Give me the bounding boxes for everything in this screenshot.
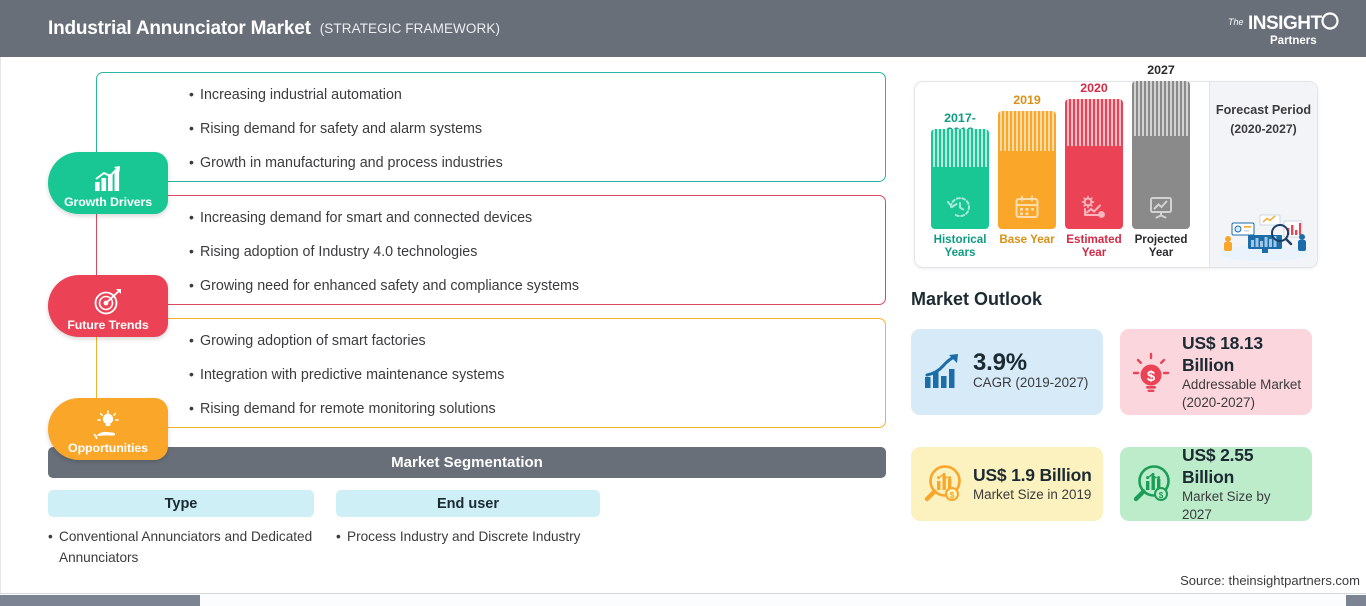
growth-chart-icon xyxy=(921,351,963,393)
panel-growth-drivers: Increasing industrial automation Rising … xyxy=(96,72,886,182)
segmentation-tab-type[interactable]: Type xyxy=(48,490,314,517)
forecast-period-range: (2020-2027) xyxy=(1230,122,1296,136)
pill-growth-drivers[interactable]: Growth Drivers xyxy=(48,152,168,214)
outlook-card-value: US$ 2.55 Billion xyxy=(1182,444,1302,488)
dollar-bulb-icon: $ xyxy=(1130,351,1172,393)
timeline-bar-year: 2020 xyxy=(1065,81,1123,95)
market-outlook-title: Market Outlook xyxy=(911,289,1042,310)
list-item: Rising demand for remote monitoring solu… xyxy=(189,401,885,418)
projection-screen-icon xyxy=(1148,195,1174,219)
bullet-list-opportunities: Growing adoption of smart factories Inte… xyxy=(97,319,885,418)
forecast-timeline: 2017-2018 Historical Years xyxy=(914,81,1318,268)
list-item: Process Industry and Discrete Industry xyxy=(336,526,600,547)
outlook-card-value: 3.9% xyxy=(973,352,1093,374)
right-column: 2017-2018 Historical Years xyxy=(905,57,1366,606)
magnifier-chart-icon: $ xyxy=(1130,463,1172,505)
timeline-bar-caption: Projected Year xyxy=(1124,233,1198,259)
outlook-card-text: US$ 1.9 Billion Market Size in 2019 xyxy=(973,464,1093,504)
segmentation-list-end-user: Process Industry and Discrete Industry xyxy=(336,526,600,547)
timeline-bar-caption: Estimated Year xyxy=(1057,233,1131,259)
market-segmentation-title: Market Segmentation xyxy=(391,454,543,471)
segmentation-tab-label: Type xyxy=(165,496,198,512)
calendar-icon xyxy=(1014,195,1040,219)
page-subtitle: (STRATEGIC FRAMEWORK) xyxy=(320,21,500,36)
list-item: Growing adoption of smart factories xyxy=(189,333,885,350)
horizontal-scrollbar[interactable] xyxy=(0,593,1366,606)
pill-label: Future Trends xyxy=(67,319,148,332)
timeline-bar-caption: Base Year xyxy=(990,233,1064,246)
outlook-card-market-size-2019[interactable]: $ US$ 1.9 Billion Market Size in 2019 xyxy=(911,447,1103,521)
page-title: Industrial Annunciator Market xyxy=(48,18,311,40)
bar-chart-growth-icon xyxy=(91,164,125,194)
outlook-card-label: Market Size in 2019 xyxy=(973,486,1093,504)
list-item: Rising adoption of Industry 4.0 technolo… xyxy=(189,244,885,261)
list-item: Increasing industrial automation xyxy=(189,87,885,104)
timeline-bar-projected: 2027 Projected Year xyxy=(1132,81,1190,229)
forecast-gear-icon xyxy=(1081,195,1107,219)
svg-text:INSIGHT: INSIGHT xyxy=(1248,13,1322,34)
outlook-card-market-size-2027[interactable]: $ US$ 2.55 Billion Market Size by 2027 xyxy=(1120,447,1312,521)
segmentation-column-end-user: End user Process Industry and Discrete I… xyxy=(336,490,600,547)
clock-rewind-icon xyxy=(947,195,973,219)
list-item: Increasing demand for smart and connecte… xyxy=(189,210,885,227)
timeline-bar-estimated: 2020 Estimated xyxy=(1065,99,1123,229)
outlook-card-text: 3.9% CAGR (2019-2027) xyxy=(973,352,1093,392)
business-analytics-illustration xyxy=(1214,209,1314,261)
segmentation-column-type: Type Conventional Annunciators and Dedic… xyxy=(48,490,314,568)
magnifier-chart-icon: $ xyxy=(921,463,963,505)
forecast-period-title: Forecast Period xyxy=(1216,102,1311,118)
panel-opportunities: Growing adoption of smart factories Inte… xyxy=(96,318,886,428)
left-column: Increasing industrial automation Rising … xyxy=(0,57,905,606)
outlook-card-cagr[interactable]: 3.9% CAGR (2019-2027) xyxy=(911,329,1103,415)
target-dart-icon xyxy=(91,287,125,317)
list-item: Growing need for enhanced safety and com… xyxy=(189,278,885,295)
page-header: Industrial Annunciator Market (STRATEGIC… xyxy=(0,0,1366,57)
lightbulb-hand-icon xyxy=(91,410,125,440)
pill-label: Growth Drivers xyxy=(64,196,152,209)
timeline-bar-historical: 2017-2018 Historical Years xyxy=(931,129,989,229)
segmentation-tab-label: End user xyxy=(437,496,499,512)
market-segmentation-header: Market Segmentation xyxy=(48,447,886,478)
pill-future-trends[interactable]: Future Trends xyxy=(48,275,168,337)
scrollbar-thumb[interactable] xyxy=(0,595,200,606)
timeline-bar-base: 2019 xyxy=(998,111,1056,229)
forecast-period-panel: Forecast Period (2020-2027) xyxy=(1209,82,1317,267)
segmentation-list-type: Conventional Annunciators and Dedicated … xyxy=(48,526,314,568)
timeline-bar-year: 2019 xyxy=(998,93,1056,107)
list-item: Rising demand for safety and alarm syste… xyxy=(189,121,885,138)
outlook-card-text: US$ 2.55 Billion Market Size by 2027 xyxy=(1182,444,1302,524)
segmentation-tab-end-user[interactable]: End user xyxy=(336,490,600,517)
pill-label: Opportunities xyxy=(68,442,148,455)
list-item: Growth in manufacturing and process indu… xyxy=(189,155,885,172)
outlook-card-label: Market Size by 2027 xyxy=(1182,488,1302,524)
outlook-card-value: US$ 18.13 Billion xyxy=(1182,332,1302,376)
svg-text:The: The xyxy=(1228,17,1244,27)
panel-future-trends: Increasing demand for smart and connecte… xyxy=(96,195,886,305)
outlook-card-text: US$ 18.13 Billion Addressable Market (20… xyxy=(1182,332,1302,412)
timeline-bar-year: 2027 xyxy=(1132,63,1190,77)
timeline-bars: 2017-2018 Historical Years xyxy=(931,82,1201,267)
pill-opportunities[interactable]: Opportunities xyxy=(48,398,168,460)
svg-text:$: $ xyxy=(950,491,955,500)
svg-text:$: $ xyxy=(1147,368,1156,385)
infographic-page: Industrial Annunciator Market (STRATEGIC… xyxy=(0,0,1366,606)
svg-text:Partners: Partners xyxy=(1270,35,1317,47)
scrollbar-track-right[interactable] xyxy=(1346,595,1366,606)
source-attribution: Source: theinsightpartners.com xyxy=(1180,573,1360,588)
outlook-card-value: US$ 1.9 Billion xyxy=(973,464,1093,486)
list-item: Integration with predictive maintenance … xyxy=(189,367,885,384)
timeline-bar-caption: Historical Years xyxy=(923,233,997,259)
bullet-list-growth-drivers: Increasing industrial automation Rising … xyxy=(97,73,885,172)
outlook-card-label: Addressable Market (2020-2027) xyxy=(1182,376,1302,412)
insight-partners-logo: The INSIGHT Partners xyxy=(1226,8,1344,50)
outlook-card-addressable-market[interactable]: $ US$ 18.13 Billion Addressable Market (… xyxy=(1120,329,1312,415)
bullet-list-future-trends: Increasing demand for smart and connecte… xyxy=(97,196,885,295)
outlook-card-label: CAGR (2019-2027) xyxy=(973,374,1093,392)
svg-text:$: $ xyxy=(1159,491,1164,500)
list-item: Conventional Annunciators and Dedicated … xyxy=(48,526,314,568)
